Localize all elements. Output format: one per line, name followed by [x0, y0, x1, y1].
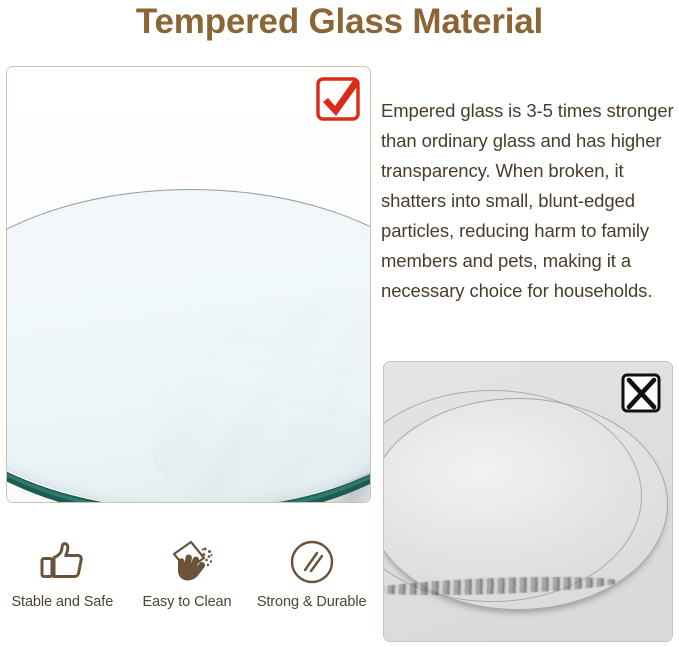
cross-x-icon	[620, 372, 662, 414]
feature-easy-to-clean: Easy to Clean	[125, 534, 249, 610]
ordinary-glass-panel	[383, 361, 673, 642]
page-title: Tempered Glass Material	[0, 0, 679, 52]
feature-strong-and-durable: Strong & Durable	[250, 534, 374, 610]
feature-stable-and-safe: Stable and Safe	[0, 534, 124, 610]
tempered-glass-panel	[6, 66, 371, 503]
glass-rim-line	[7, 189, 370, 502]
feature-label: Stable and Safe	[11, 594, 113, 610]
check-mark-icon	[314, 75, 362, 123]
hand-wipe-cloth-icon	[159, 534, 215, 590]
feature-label: Easy to Clean	[142, 594, 231, 610]
description-text: Empered glass is 3-5 times stronger than…	[381, 96, 677, 306]
feature-label: Strong & Durable	[257, 594, 367, 610]
ordinary-glass-photo	[384, 362, 672, 641]
thumbs-up-icon	[34, 534, 90, 590]
tempered-glass-photo	[7, 67, 370, 502]
circle-scratch-icon	[284, 534, 340, 590]
infographic-page: Tempered Glass Material	[0, 0, 679, 647]
feature-list: Stable and Safe	[0, 534, 374, 630]
